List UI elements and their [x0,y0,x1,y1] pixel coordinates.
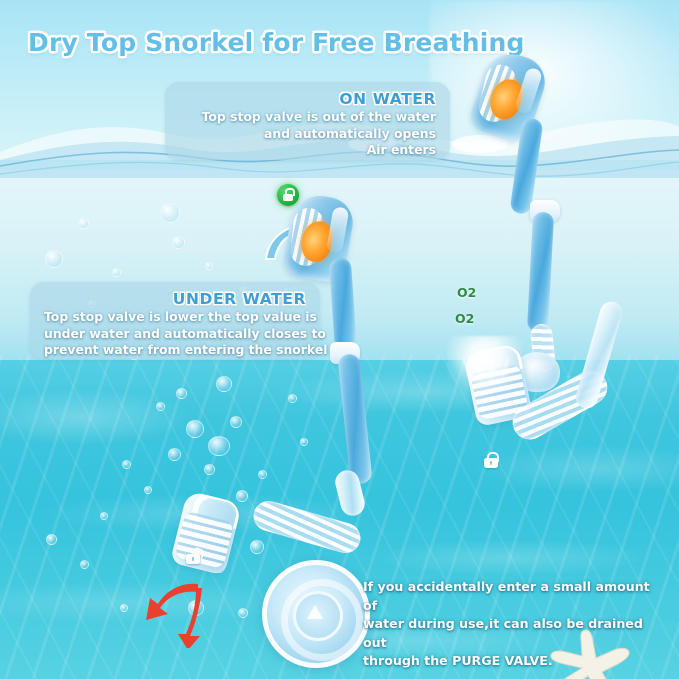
lock-closed-white-icon [484,452,498,468]
callout-heading-on-water: ON WATER [179,89,436,109]
bubble [160,203,180,223]
callout-line: Air enters [179,142,436,159]
callout-on-water: ON WATER Top stop valve is out of the wa… [165,82,450,160]
bubble [122,460,131,469]
purge-note-line: If you accidentally enter a small amount… [363,578,663,615]
bubble [168,448,181,461]
valve-highlight [326,206,350,254]
bubble [230,416,242,428]
arrow-drain-red-icon [140,578,240,648]
callout-line: and automatically opens [179,126,436,143]
bubble [236,490,248,502]
burst-ray [490,358,495,386]
bubble [258,470,267,479]
o2-label: O2 [455,311,474,326]
bubble [45,250,63,268]
callout-line: Top stop valve is out of the water [179,109,436,126]
o2-label: O2 [457,285,476,300]
bubble [288,394,297,403]
lock-open-white-icon [186,548,200,564]
burst-ray [478,358,483,386]
snorkel-tube-mid [527,212,554,333]
bubble [204,464,215,475]
bubble [144,486,152,494]
bubble [46,534,57,545]
callout-line: under water and automatically closes to [44,326,306,343]
bubble [156,402,165,411]
purge-note-line: through the PURGE VALVE. [363,652,663,671]
bubble [100,512,108,520]
air-burst-effect [447,336,523,392]
callout-line: Top stop valve is lower the top value is [44,309,306,326]
bubble [80,560,89,569]
bubble [208,436,230,456]
valve-petal [307,605,323,619]
callout-heading-under-water: UNDER WATER [44,289,306,309]
purge-note-line: water during use,it can also be drained … [363,615,663,652]
burst-ray [463,358,474,385]
bubble [186,420,204,438]
bubble [205,262,213,270]
burst-ray [499,358,510,385]
bubble [300,438,308,446]
bubble [172,236,185,249]
bubble [176,388,187,399]
bubble [216,376,232,392]
lock-closed-green-icon [277,184,299,206]
infographic-canvas: Dry Top Snorkel for Free Breathing [0,0,679,679]
purge-valve-zoom-icon [262,560,370,668]
bubble [250,540,264,554]
purge-valve-note: If you accidentally enter a small amount… [363,578,663,671]
bubble [112,268,121,277]
bubble [120,604,128,612]
callout-under-water: UNDER WATER Top stop valve is lower the … [30,282,320,359]
bubble [78,218,89,229]
callout-line: prevent water from entering the snorkel [44,342,306,359]
